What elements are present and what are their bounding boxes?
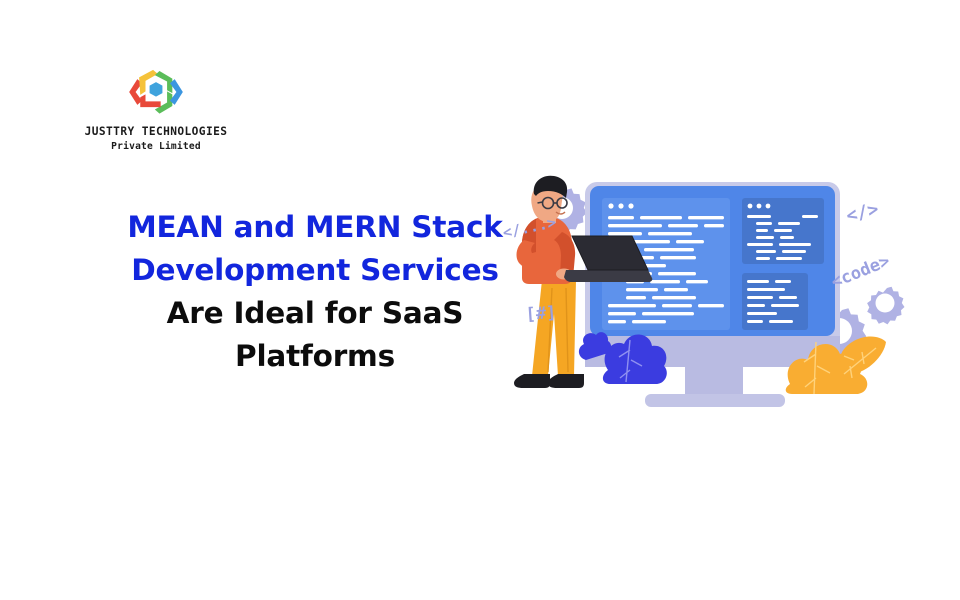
hexagon-chevrons-logo-icon: [120, 64, 192, 120]
brand-subtitle: Private Limited: [78, 141, 234, 152]
shoe-left-icon: [514, 374, 550, 388]
brand-name: JUSTTRY TECHNOLOGIES: [78, 126, 234, 138]
headline-block: MEAN and MERN Stack Development Services…: [95, 206, 535, 378]
banner-root: JUSTTRY TECHNOLOGIES Private Limited MEA…: [0, 0, 960, 600]
left-panel-window-dots: [608, 203, 633, 208]
developer-at-monitor-illustration: </...> [#] </> <code>: [490, 170, 950, 420]
gear-right-small: [867, 287, 904, 325]
shoe-right-icon: [548, 374, 584, 388]
headline-line-2: Development Services: [95, 249, 535, 292]
headline-line-1: MEAN and MERN Stack: [95, 206, 535, 249]
illustration-svg: </...> [#] </> <code>: [490, 170, 950, 420]
headline-line-3: Are Ideal for SaaS: [95, 292, 535, 335]
brand-logo[interactable]: JUSTTRY TECHNOLOGIES Private Limited: [78, 64, 234, 154]
code-token-right-upper: </>: [844, 199, 881, 227]
code-token-left-lower: [#]: [525, 303, 557, 325]
right-code-panel-top: [742, 198, 824, 264]
code-token-text: </>: [844, 199, 881, 227]
code-token-text: [#]: [525, 303, 557, 325]
right-panel-top-window-dots: [748, 204, 771, 209]
right-code-panel-bottom: [742, 273, 808, 330]
headline-line-4: Platforms: [95, 335, 535, 378]
